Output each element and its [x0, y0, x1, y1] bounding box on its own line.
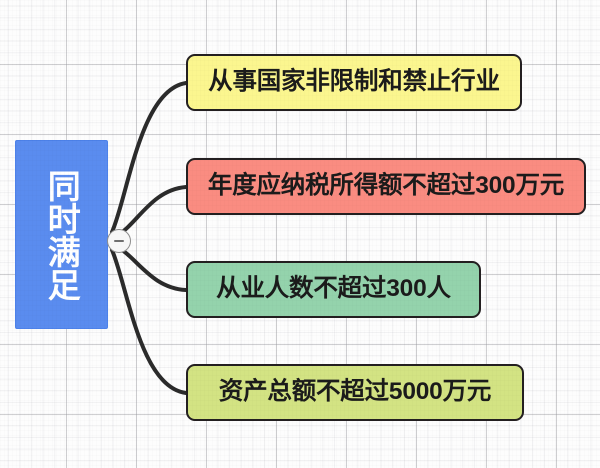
minus-circle-icon: [114, 240, 124, 242]
branch-node-0-label: 从事国家非限制和禁止行业: [208, 70, 500, 95]
branch-node-3-label: 资产总额不超过5000万元: [219, 380, 491, 405]
mindmap-canvas: 同时满足 从事国家非限制和禁止行业 年度应纳税所得额不超过300万元 从业人数不…: [0, 0, 600, 468]
root-node[interactable]: 同时满足: [15, 140, 108, 329]
branch-node-1[interactable]: 年度应纳税所得额不超过300万元: [186, 158, 586, 215]
branch-node-3[interactable]: 资产总额不超过5000万元: [186, 364, 524, 421]
connector-to-branch-3: [112, 250, 186, 393]
branch-node-1-label: 年度应纳税所得额不超过300万元: [208, 174, 564, 199]
collapse-toggle-button[interactable]: [107, 229, 131, 253]
branch-node-2-label: 从业人数不超过300人: [216, 277, 451, 302]
branch-node-0[interactable]: 从事国家非限制和禁止行业: [186, 54, 522, 111]
connector-to-branch-0: [112, 83, 186, 232]
root-node-label: 同时满足: [41, 169, 83, 301]
branch-node-2[interactable]: 从业人数不超过300人: [186, 261, 481, 318]
